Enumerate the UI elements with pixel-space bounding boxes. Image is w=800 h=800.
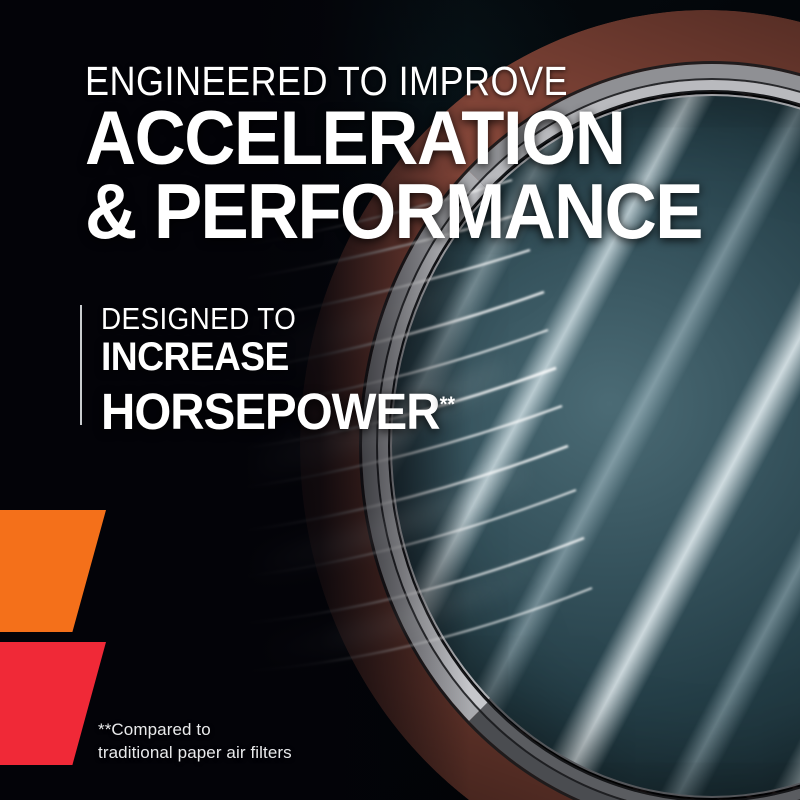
subhead-eyebrow: DESIGNED TO — [101, 302, 444, 336]
advertisement-canvas: ENGINEERED TO IMPROVE ACCELERATION & PER… — [0, 0, 800, 800]
headline-line-1: ACCELERATION — [85, 103, 702, 175]
subhead-superscript-marker: ** — [440, 392, 456, 416]
marketing-copy: ENGINEERED TO IMPROVE ACCELERATION & PER… — [0, 0, 800, 800]
subhead-line-2: HORSEPOWER** — [101, 378, 455, 438]
footnote-line-2: traditional paper air filters — [98, 741, 292, 764]
footnote-line-1: **Compared to — [98, 718, 292, 741]
subhead-vertical-rule — [80, 305, 82, 425]
subhead-line-1: INCREASE — [101, 336, 455, 378]
subhead-block: DESIGNED TO INCREASE HORSEPOWER** — [101, 302, 482, 438]
subhead-line-2-text: HORSEPOWER — [101, 383, 440, 440]
main-headline: ACCELERATION & PERFORMANCE — [85, 103, 702, 247]
footnote-disclaimer: **Compared to traditional paper air filt… — [98, 718, 292, 764]
headline-line-2: & PERFORMANCE — [85, 175, 702, 247]
